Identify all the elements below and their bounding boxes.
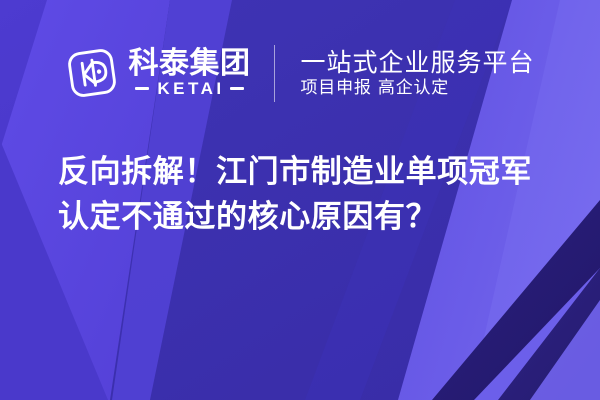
brand-name-en-row: KETAI bbox=[128, 80, 250, 97]
tagline-block: 一站式企业服务平台 项目申报 高企认定 bbox=[275, 49, 534, 98]
brand-name-cn: 科泰集团 bbox=[128, 49, 250, 79]
title-line-2: 认定不通过的核心原因有？ bbox=[58, 195, 542, 240]
title-line-1: 反向拆解！江门市制造业单项冠军 bbox=[58, 150, 542, 195]
brand-name-en: KETAI bbox=[154, 80, 224, 97]
ketai-diamond-monogram-icon bbox=[65, 46, 119, 100]
banner-header: 科泰集团 KETAI 一站式企业服务平台 项目申报 高企认定 bbox=[0, 33, 600, 113]
dash-right-icon bbox=[230, 87, 244, 90]
dash-left-icon bbox=[135, 87, 149, 90]
tagline-sub: 项目申报 高企认定 bbox=[300, 79, 534, 98]
promo-banner: 科泰集团 KETAI 一站式企业服务平台 项目申报 高企认定 反向拆解！江门市制… bbox=[0, 0, 600, 400]
page-title: 反向拆解！江门市制造业单项冠军 认定不通过的核心原因有？ bbox=[0, 150, 600, 240]
brand-wordmark: 科泰集团 KETAI bbox=[128, 49, 250, 97]
brand-logo[interactable]: 科泰集团 KETAI bbox=[65, 46, 274, 100]
tagline-main: 一站式企业服务平台 bbox=[300, 49, 534, 76]
